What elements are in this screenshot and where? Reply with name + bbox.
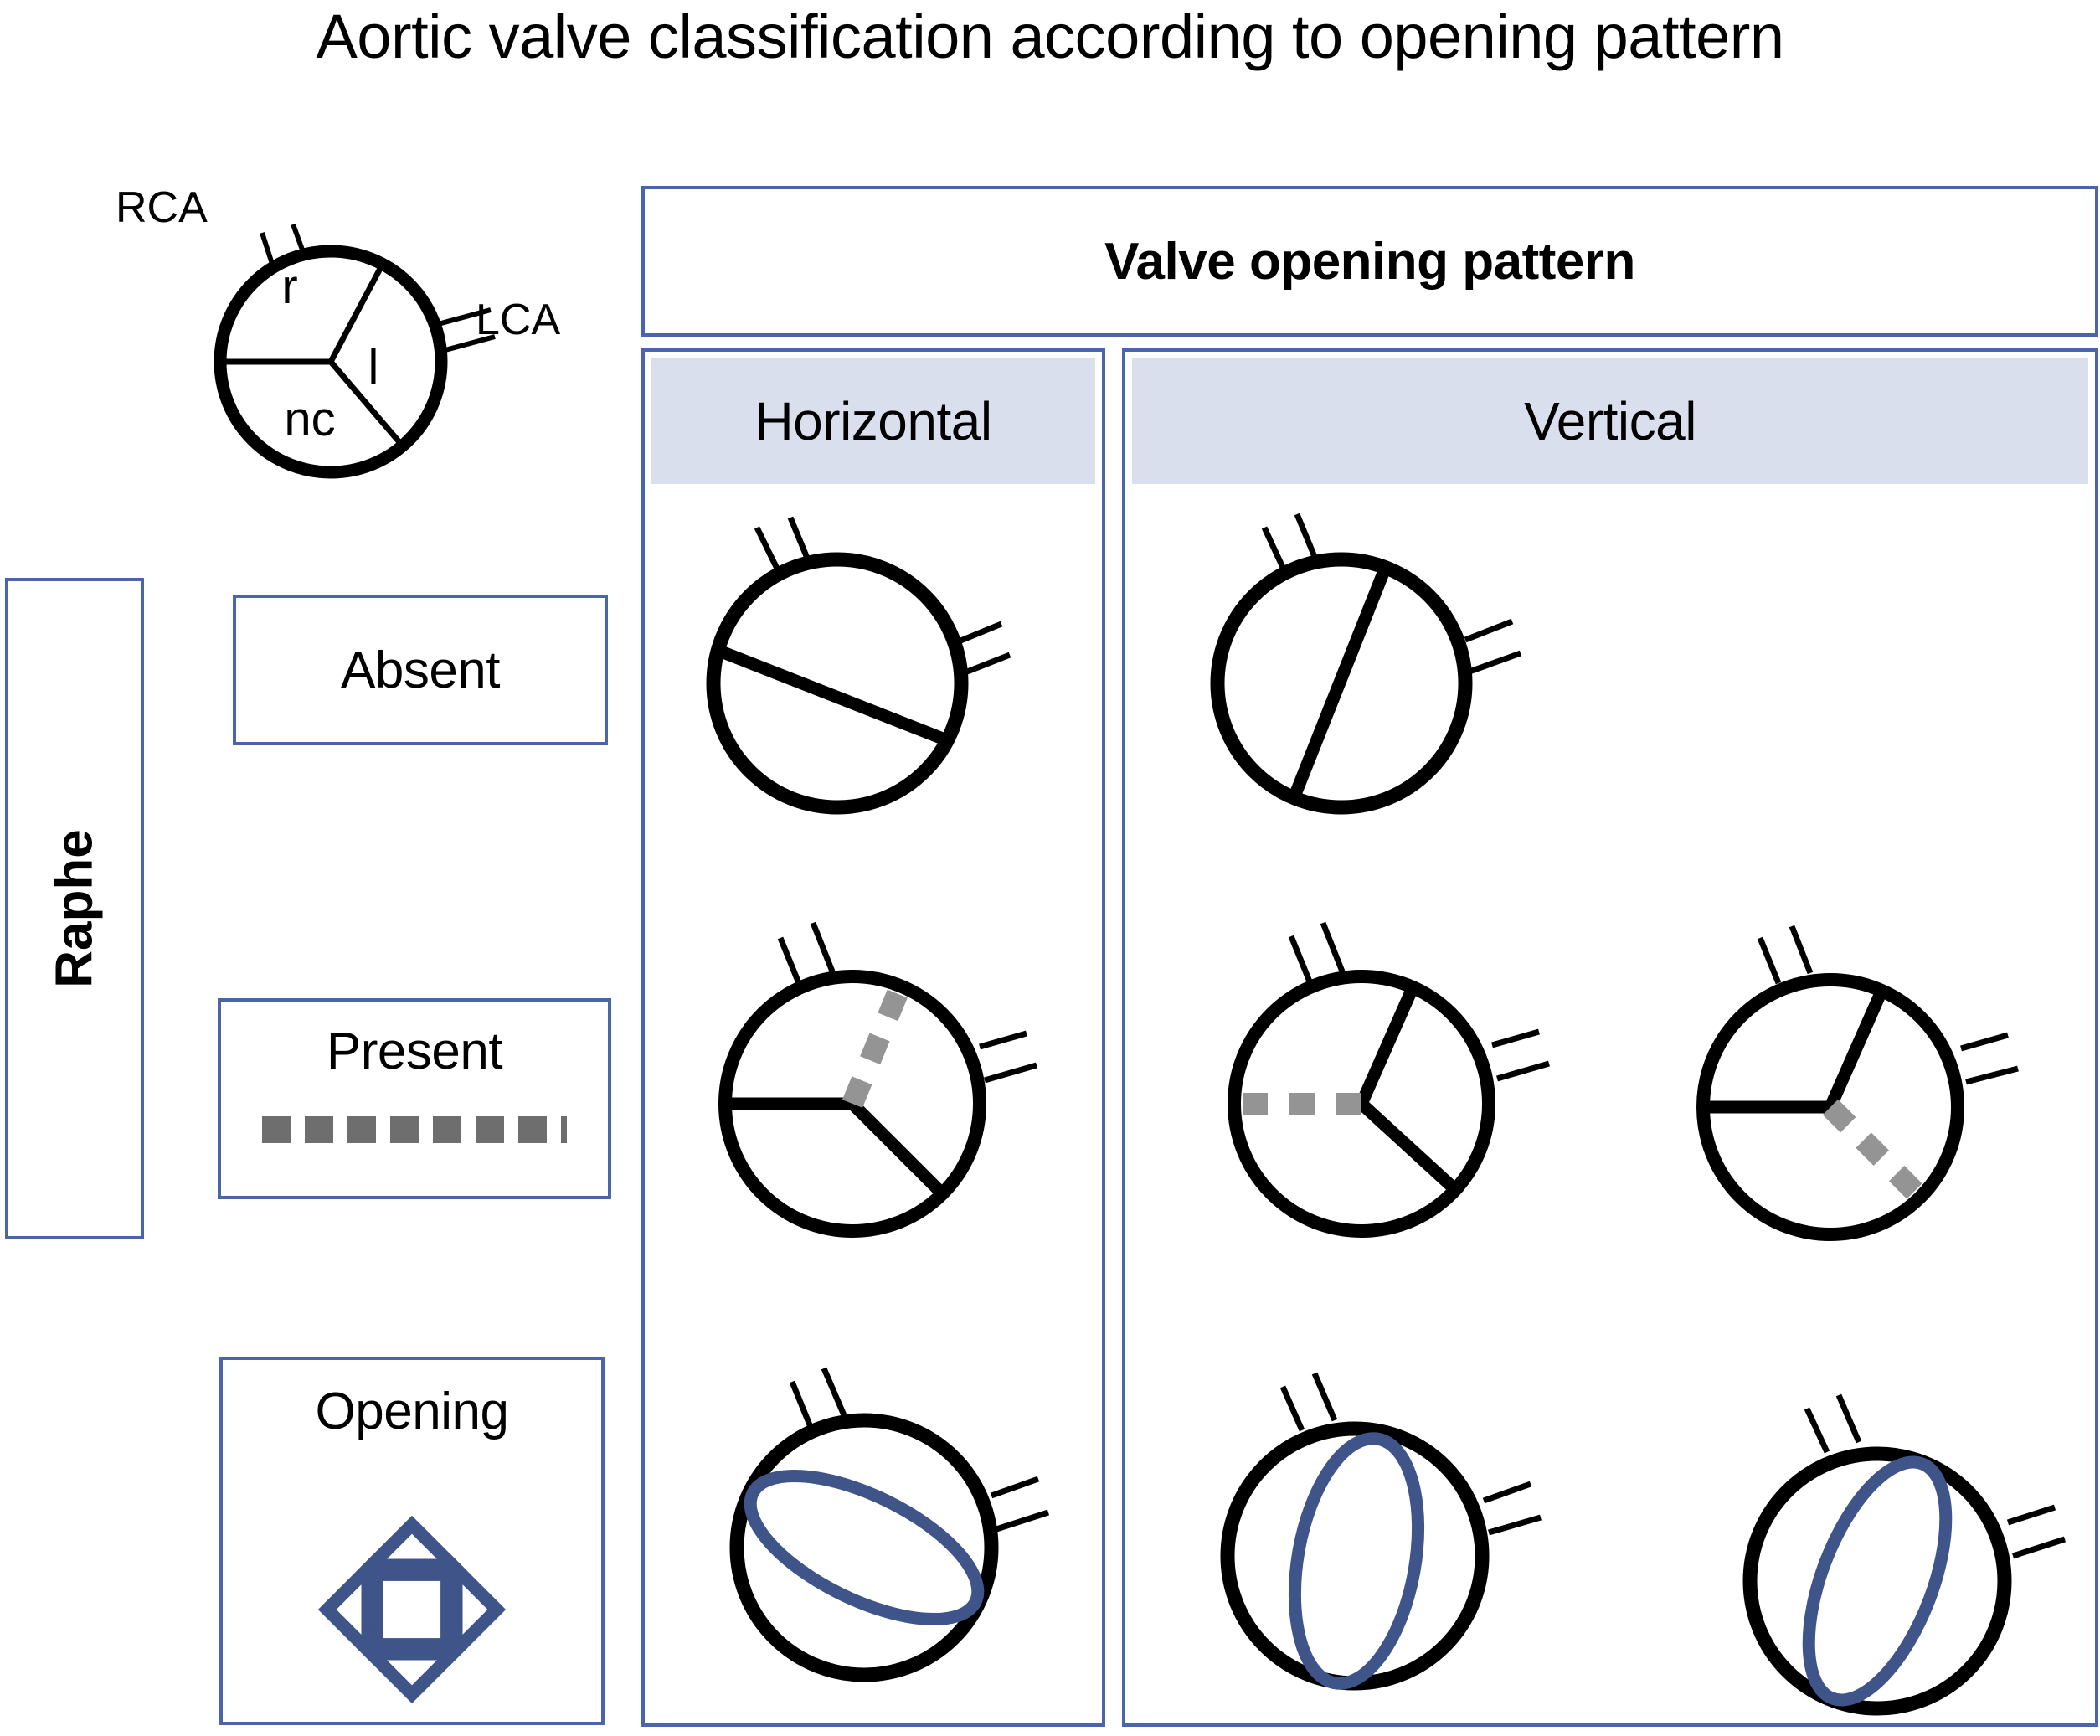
- row-label-absent-text: Absent: [341, 641, 500, 700]
- cusp-label-r: r: [281, 260, 297, 314]
- valve-cell-opening-vertical-1: [1222, 1357, 1608, 1725]
- row-label-opening-text: Opening: [223, 1382, 601, 1441]
- valve-annulus: [1750, 1454, 2005, 1708]
- column-header-vertical: Vertical: [1132, 358, 2088, 484]
- valve-cell-absent-vertical: [1181, 502, 1583, 863]
- banner-label: Valve opening pattern: [1104, 232, 1635, 291]
- valve-cell-present-vertical-1: [1214, 913, 1608, 1281]
- row-label-absent: Absent: [233, 595, 608, 745]
- column-header-horizontal: Horizontal: [651, 358, 1095, 484]
- valve-annulus: [1228, 1429, 1482, 1683]
- lca-label: LCA: [476, 295, 560, 345]
- column-header-vertical-text: Vertical: [1524, 390, 1696, 452]
- valve-cell-present-vertical-2: [1700, 913, 2085, 1281]
- reference-valve-diagram: r l nc RCA LCA: [151, 193, 653, 528]
- dashed-line-icon: [221, 1115, 608, 1144]
- cusp-label-nc: nc: [284, 392, 335, 446]
- valve-cell-opening-horizontal: [712, 1357, 1097, 1725]
- four-way-expand-arrow-icon: [320, 1517, 504, 1702]
- valve-opening-pattern-banner: Valve opening pattern: [641, 186, 2098, 337]
- column-header-horizontal-text: Horizontal: [754, 390, 991, 452]
- valve-cell-absent-horizontal: [670, 502, 1072, 863]
- row-label-opening: Opening: [219, 1357, 605, 1725]
- cusp-label-l: l: [368, 340, 379, 394]
- raphe-axis-label-box: Raphe: [5, 578, 144, 1239]
- rca-label: RCA: [116, 183, 208, 233]
- valve-cell-present-horizontal: [695, 913, 1089, 1281]
- raphe-axis-label: Raphe: [45, 829, 105, 987]
- valve-annulus: [713, 559, 961, 807]
- valve-cell-opening-vertical-2: [1700, 1357, 2085, 1725]
- page-title: Aortic valve classification according to…: [0, 2, 2100, 72]
- row-label-present: Present: [218, 998, 611, 1199]
- row-label-present-text: Present: [221, 1022, 608, 1081]
